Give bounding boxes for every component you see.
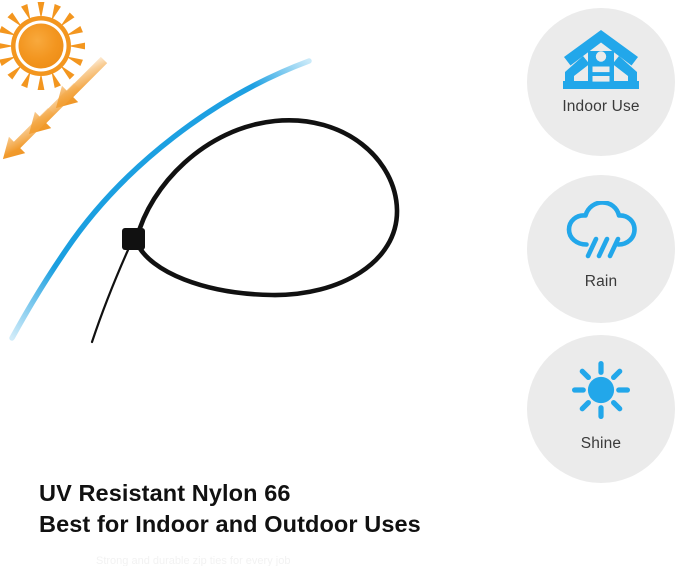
caption-line-1: UV Resistant Nylon 66 <box>39 480 291 506</box>
product-feature-graphic: UV Resistant Nylon 66 Best for Indoor an… <box>0 0 679 574</box>
rain-cloud-icon <box>563 201 639 259</box>
badge-label: Shine <box>581 435 621 453</box>
badge-label: Indoor Use <box>562 98 639 116</box>
cut-off-text-line: Strong and durable zip ties for every jo… <box>96 556 486 566</box>
feature-badge-list: Indoor Use Rain <box>527 8 675 491</box>
badge-rain[interactable]: Rain <box>527 175 675 323</box>
sun-icon <box>0 2 85 90</box>
badge-shine[interactable]: Shine <box>527 335 675 483</box>
house-icon <box>562 28 640 90</box>
badge-indoor-use[interactable]: Indoor Use <box>527 8 675 156</box>
cable-tie-head <box>122 228 145 250</box>
cable-tie-graphic <box>92 120 397 342</box>
uv-resistance-illustration <box>0 0 500 470</box>
cable-tie-tail <box>92 250 128 342</box>
sun-shine-icon <box>570 361 632 419</box>
caption-block: UV Resistant Nylon 66 Best for Indoor an… <box>39 478 489 540</box>
uv-arrow-3 <box>0 103 59 167</box>
badge-label: Rain <box>585 273 617 291</box>
caption-line-2: Best for Indoor and Outdoor Uses <box>39 509 489 540</box>
cable-tie-loop <box>137 120 397 295</box>
